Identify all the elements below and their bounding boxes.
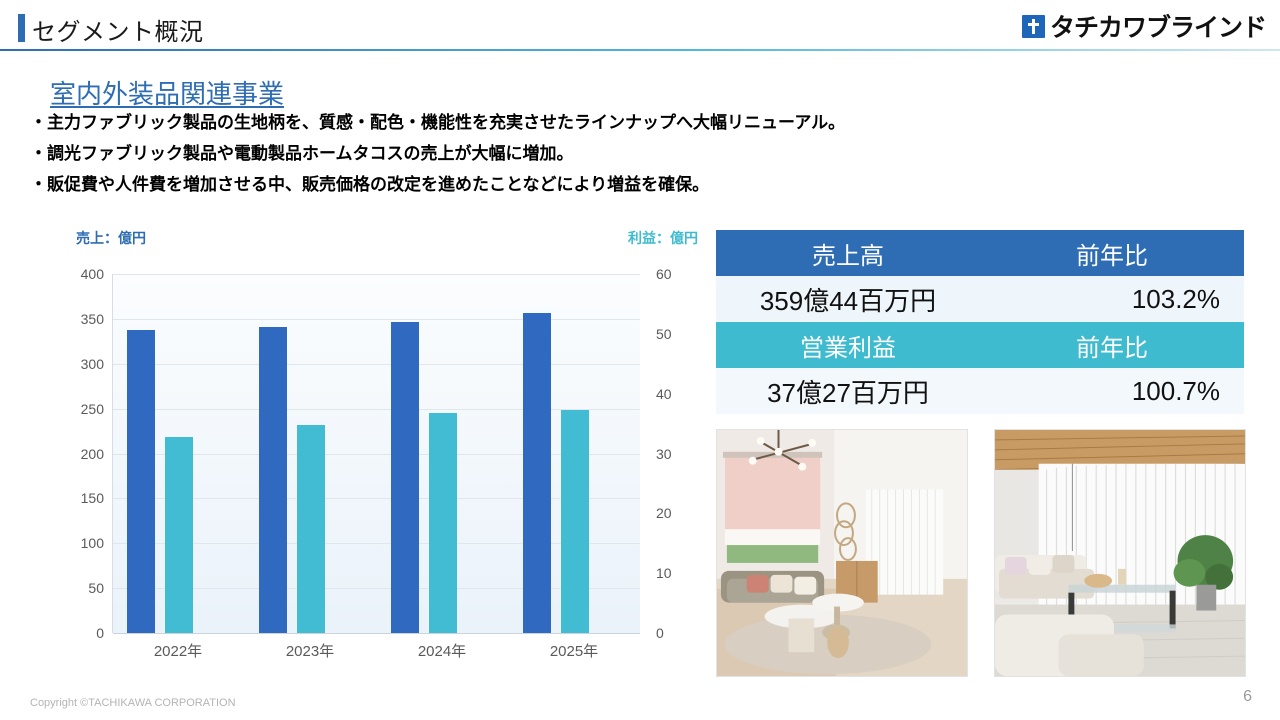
page-title: セグメント概況 bbox=[32, 12, 204, 47]
sales-percent: 103.2% bbox=[980, 276, 1244, 322]
x-axis-tick: 2024年 bbox=[376, 640, 508, 661]
sales-header-label: 売上高 bbox=[716, 230, 980, 276]
tachikawa-logo-mark-icon bbox=[1022, 15, 1045, 38]
left-axis-tick: 50 bbox=[60, 580, 104, 596]
bar-sales bbox=[259, 327, 287, 633]
section-title: 室内外装品関連事業 bbox=[50, 74, 284, 111]
x-axis-tick: 2023年 bbox=[244, 640, 376, 661]
company-logo: タチカワブラインド bbox=[1022, 13, 1266, 39]
table-row-sales-value: 359億44百万円 103.2% bbox=[716, 276, 1244, 322]
profit-compare-label: 前年比 bbox=[980, 322, 1244, 368]
left-axis-tick: 400 bbox=[60, 266, 104, 282]
sales-compare-label: 前年比 bbox=[980, 230, 1244, 276]
left-axis-tick: 100 bbox=[60, 535, 104, 551]
kpi-summary-table: 売上高 前年比 359億44百万円 103.2% 営業利益 前年比 37億27百… bbox=[716, 230, 1244, 414]
bar-group bbox=[509, 274, 641, 633]
left-axis-tick: 150 bbox=[60, 490, 104, 506]
bar-sales bbox=[523, 313, 551, 633]
left-axis-tick: 300 bbox=[60, 356, 104, 372]
roller-blind-room-illustration bbox=[717, 430, 967, 676]
gridline bbox=[113, 633, 640, 634]
living-room-roller-blind-photo bbox=[716, 429, 968, 677]
right-axis-tick: 10 bbox=[656, 565, 700, 581]
living-room-vertical-blind-photo bbox=[994, 429, 1246, 677]
vertical-blind-room-illustration bbox=[995, 430, 1245, 676]
table-row-profit-value: 37億27百万円 100.7% bbox=[716, 368, 1244, 414]
profit-header-label: 営業利益 bbox=[716, 322, 980, 368]
sales-profit-bar-chart: 売上：億円 利益：億円 4003503002502001501005006050… bbox=[60, 228, 700, 683]
right-axis-tick: 30 bbox=[656, 446, 700, 462]
table-row-sales-header: 売上高 前年比 bbox=[716, 230, 1244, 276]
right-axis-tick: 60 bbox=[656, 266, 700, 282]
bar-profit bbox=[429, 413, 457, 633]
bar-group bbox=[113, 274, 245, 633]
bar-sales bbox=[391, 322, 419, 633]
left-axis-tick: 200 bbox=[60, 446, 104, 462]
left-axis-tick: 0 bbox=[60, 625, 104, 641]
bar-profit bbox=[165, 437, 193, 633]
bar-profit bbox=[561, 410, 589, 633]
chart-left-axis-label: 売上：億円 bbox=[76, 228, 146, 248]
bullet-item: ・主力ファブリック製品の生地柄を、質感・配色・機能性を充実させたラインナップへ大… bbox=[30, 114, 1030, 131]
table-row-profit-header: 営業利益 前年比 bbox=[716, 322, 1244, 368]
bar-profit bbox=[297, 425, 325, 633]
x-axis-tick: 2025年 bbox=[508, 640, 640, 661]
x-axis-tick: 2022年 bbox=[112, 640, 244, 661]
chart-plot-wrapper: 4003503002502001501005006050403020100202… bbox=[60, 268, 700, 633]
profit-percent: 100.7% bbox=[980, 368, 1244, 414]
bullet-item: ・販促費や人件費を増加させる中、販売価格の改定を進めたことなどにより増益を確保。 bbox=[30, 176, 1030, 193]
chart-plot-area bbox=[112, 274, 640, 633]
right-axis-tick: 0 bbox=[656, 625, 700, 641]
chart-bars bbox=[113, 274, 640, 633]
bar-group bbox=[245, 274, 377, 633]
header-accent-bar bbox=[18, 14, 25, 42]
footer-copyright: Copyright ©TACHIKAWA CORPORATION bbox=[30, 697, 236, 709]
right-axis-tick: 40 bbox=[656, 386, 700, 402]
right-axis-tick: 50 bbox=[656, 326, 700, 342]
profit-amount: 37億27百万円 bbox=[716, 368, 980, 414]
logo-text: タチカワブラインド bbox=[1050, 8, 1266, 44]
bullet-item: ・調光ファブリック製品や電動製品ホームタコスの売上が大幅に増加。 bbox=[30, 145, 1030, 162]
slide-header: セグメント概況 タチカワブラインド bbox=[0, 0, 1280, 50]
left-axis-tick: 350 bbox=[60, 311, 104, 327]
bar-sales bbox=[127, 330, 155, 633]
sales-amount: 359億44百万円 bbox=[716, 276, 980, 322]
header-divider bbox=[0, 49, 1280, 51]
bar-group bbox=[377, 274, 509, 633]
left-axis-tick: 250 bbox=[60, 401, 104, 417]
right-axis-tick: 20 bbox=[656, 505, 700, 521]
chart-right-axis-label: 利益：億円 bbox=[628, 228, 698, 248]
bullet-list: ・主力ファブリック製品の生地柄を、質感・配色・機能性を充実させたラインナップへ大… bbox=[30, 114, 1030, 207]
page-number: 6 bbox=[1243, 688, 1252, 706]
